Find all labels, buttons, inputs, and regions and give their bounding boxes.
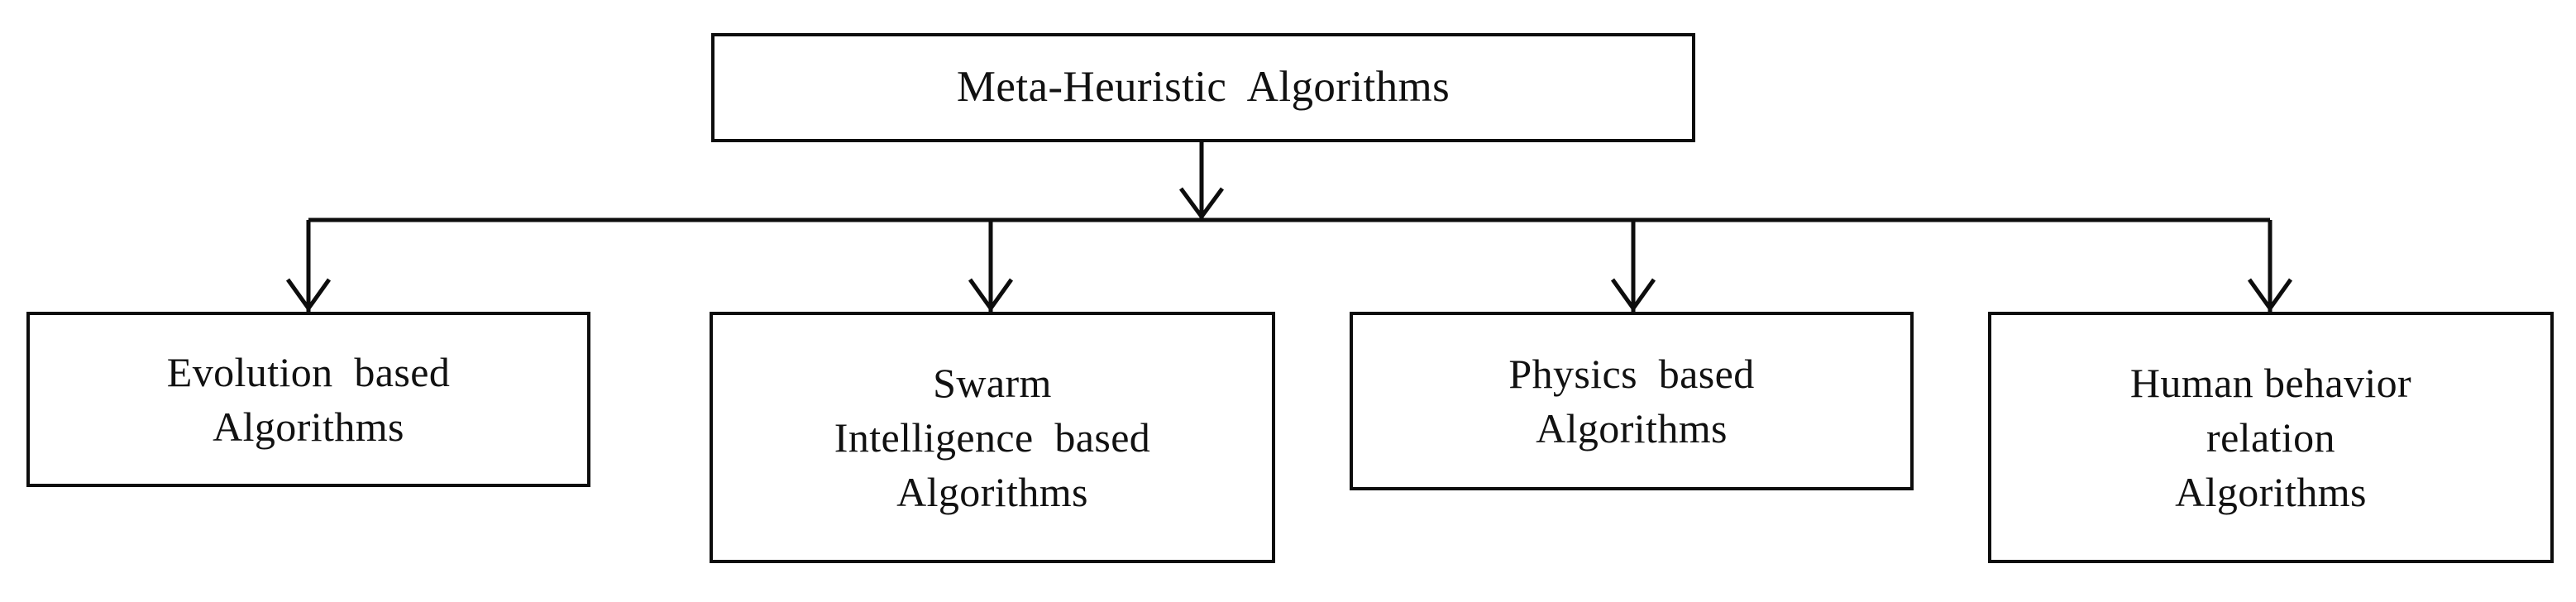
node-human-behavior-relation-algorithms[interactable]: Human behavior relation Algorithms [1988, 312, 2554, 563]
node-evolution-based-algorithms[interactable]: Evolution based Algorithms [26, 312, 590, 487]
branch-connector-evolution [288, 220, 329, 312]
branch-connector-physics [1613, 220, 1654, 312]
node-swarm-intelligence-based-algorithms[interactable]: Swarm Intelligence based Algorithms [710, 312, 1275, 563]
node-physics-based-algorithms[interactable]: Physics based Algorithms [1350, 312, 1914, 490]
node-label-line: Algorithms [896, 465, 1088, 519]
node-label-line: Algorithms [2175, 465, 2367, 519]
root-stem-connector [1181, 142, 1222, 220]
node-label-line: Meta-Heuristic Algorithms [957, 63, 1450, 112]
node-label-line: Human behavior [2130, 356, 2411, 410]
node-label-line: Intelligence based [834, 410, 1150, 465]
branch-connector-human [2249, 220, 2291, 312]
diagram-canvas: Meta-Heuristic Algorithms Evolution base… [0, 0, 2576, 602]
node-label-line: Evolution based [167, 345, 450, 399]
node-label-line: Physics based [1508, 346, 1754, 401]
node-label-line: Swarm [933, 356, 1052, 410]
branch-connector-swarm [970, 220, 1011, 312]
node-meta-heuristic-algorithms[interactable]: Meta-Heuristic Algorithms [711, 33, 1695, 142]
node-label-line: relation [2206, 410, 2335, 465]
node-label-line: Algorithms [213, 399, 404, 454]
node-label-line: Algorithms [1536, 401, 1728, 456]
